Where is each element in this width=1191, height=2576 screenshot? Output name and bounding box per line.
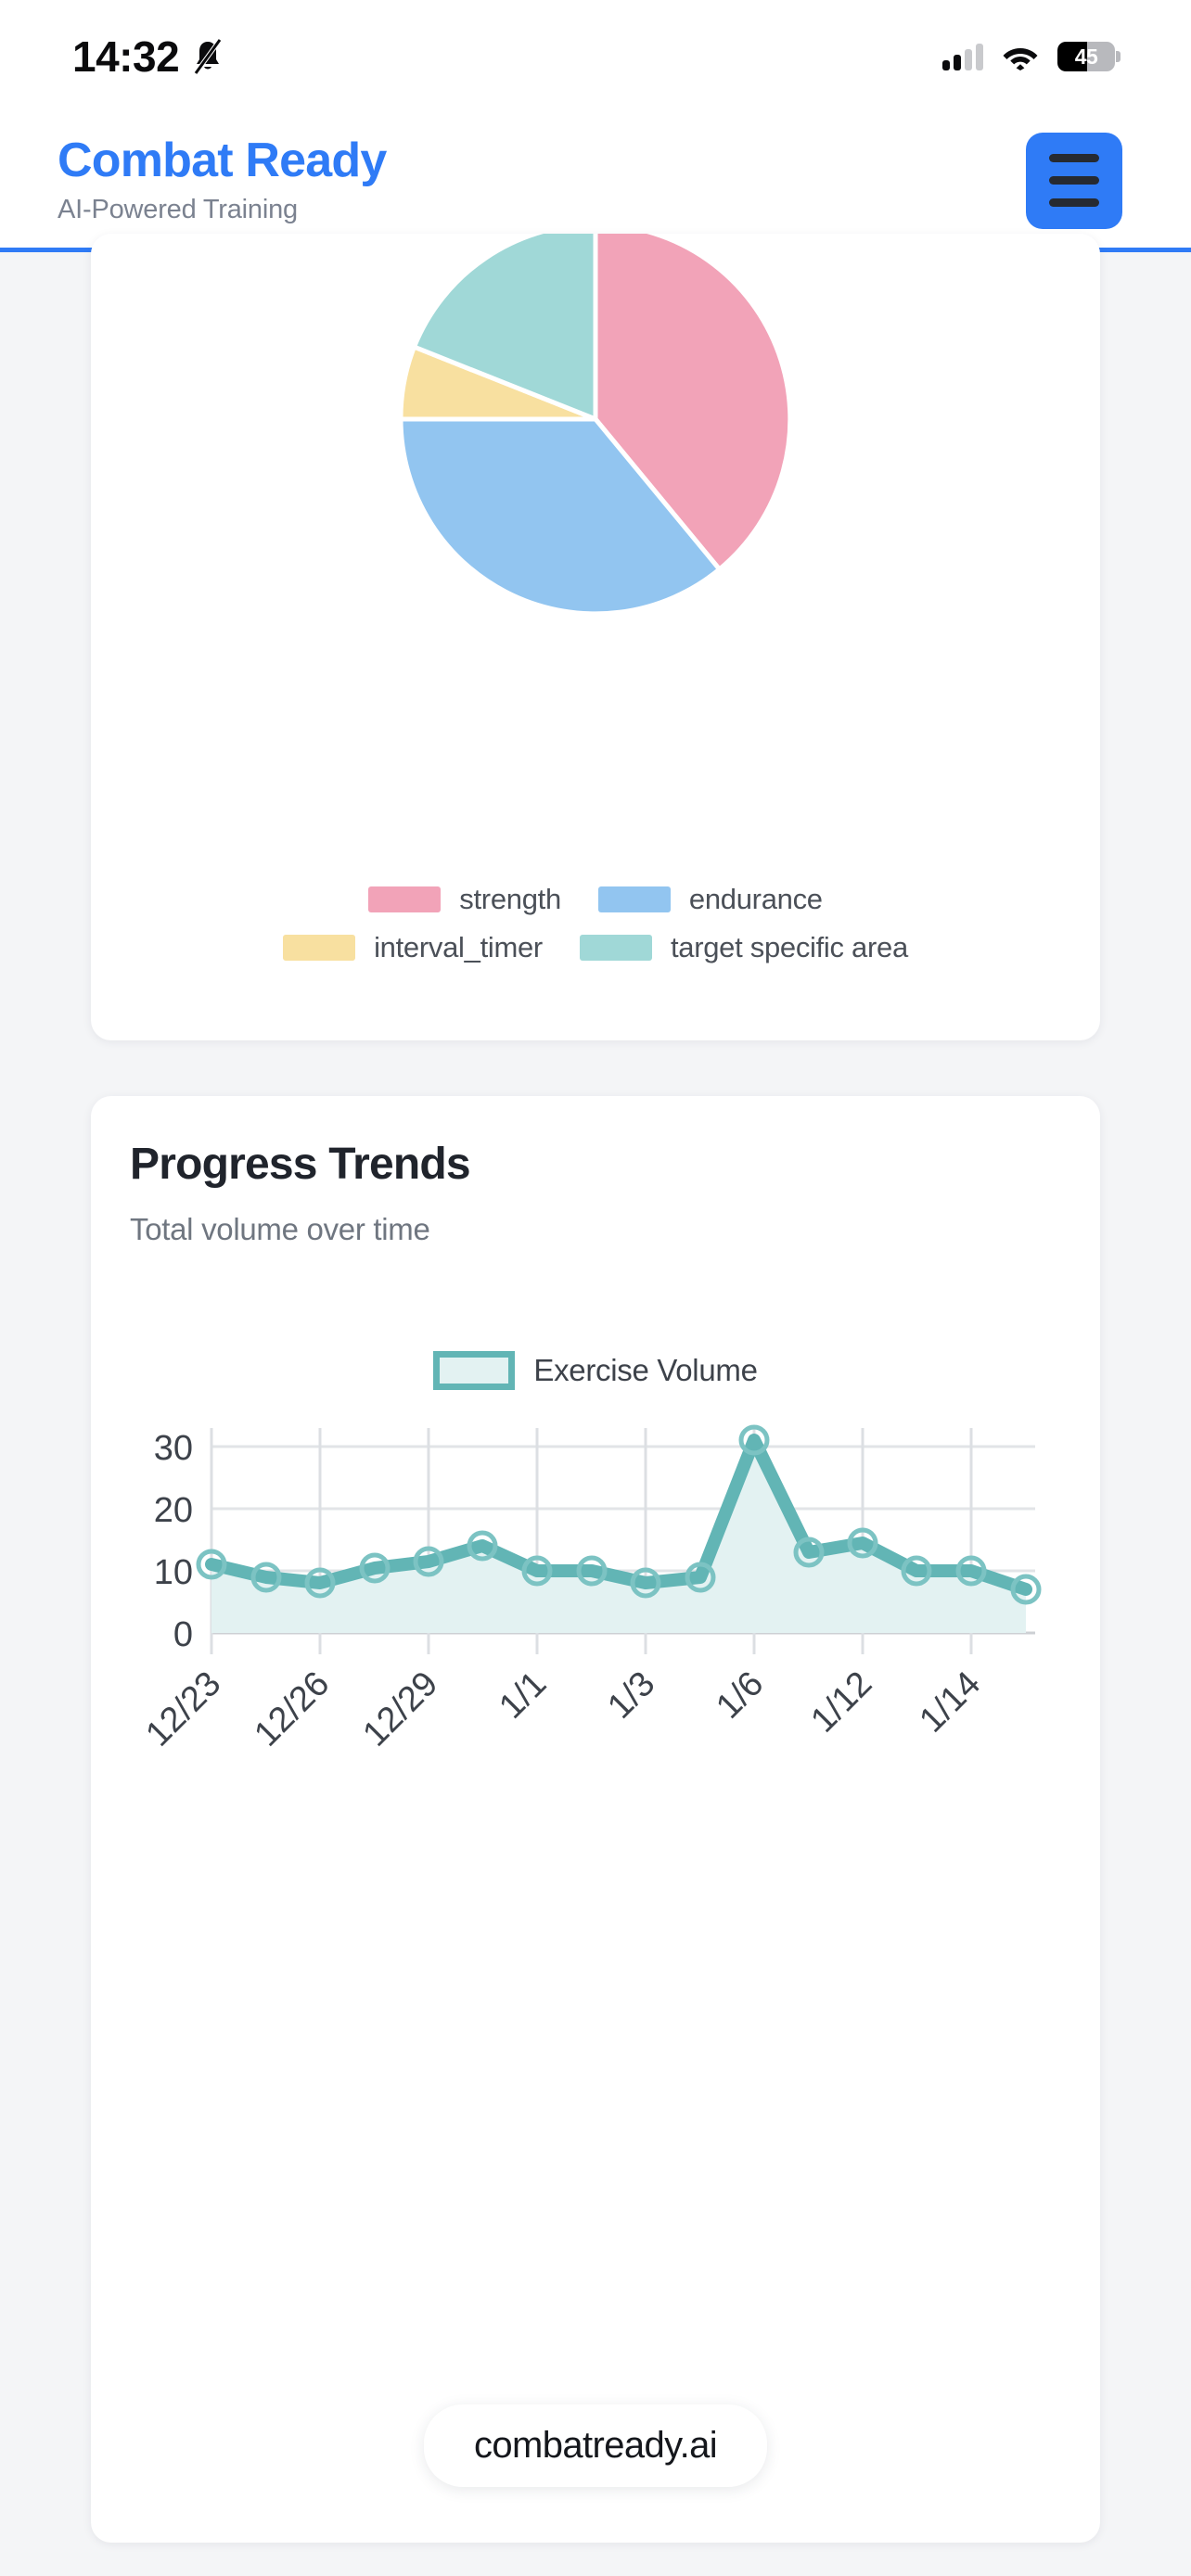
- xtick-2: 12/29: [355, 1664, 445, 1754]
- svg-text:30: 30: [154, 1429, 193, 1468]
- legend-swatch-endurance: [598, 886, 671, 912]
- status-time: 14:32: [72, 32, 179, 82]
- pie-chart[interactable]: [387, 234, 804, 628]
- xtick-5: 1/6: [709, 1664, 771, 1727]
- legend-swatch-exercise-volume: [433, 1351, 515, 1390]
- app-subtitle: AI-Powered Training: [58, 195, 386, 225]
- legend-swatch-target-specific-area: [580, 935, 652, 961]
- pie-legend: strength endurance interval_timer: [91, 883, 1100, 964]
- menu-bar-2: [1049, 176, 1099, 185]
- menu-bar-3: [1049, 198, 1099, 207]
- xtick-0: 12/23: [138, 1664, 228, 1754]
- xtick-3: 1/1: [492, 1664, 554, 1727]
- volume-line-chart[interactable]: 30 20 10 0: [91, 1411, 1100, 1782]
- battery-percent-label: 45: [1057, 42, 1115, 71]
- phone-screen: 14:32: [0, 0, 1191, 2576]
- workout-distribution-card: strength endurance interval_timer: [91, 234, 1100, 1040]
- legend-swatch-strength: [368, 886, 441, 912]
- watermark-badge: combatready.ai: [424, 2404, 767, 2487]
- battery-icon: 45: [1057, 42, 1115, 71]
- legend-label-target-specific-area: target specific area: [671, 931, 908, 964]
- xtick-7: 1/14: [912, 1664, 988, 1741]
- xtick-1: 12/26: [247, 1664, 337, 1754]
- hamburger-menu-icon[interactable]: [1026, 133, 1122, 229]
- xtick-4: 1/3: [600, 1664, 662, 1727]
- progress-trends-title: Progress Trends: [130, 1139, 470, 1190]
- status-bar: 14:32: [0, 0, 1191, 113]
- progress-trends-subtitle: Total volume over time: [130, 1212, 430, 1247]
- pie-legend-row-1: strength endurance: [368, 883, 822, 916]
- legend-label-interval-timer: interval_timer: [374, 931, 543, 964]
- wifi-icon: [1002, 43, 1039, 70]
- legend-item-endurance[interactable]: endurance: [598, 883, 823, 916]
- line-chart-legend[interactable]: Exercise Volume: [91, 1351, 1100, 1390]
- svg-text:10: 10: [154, 1553, 193, 1592]
- status-bar-right: 45: [942, 42, 1124, 71]
- xtick-6: 1/12: [803, 1664, 879, 1741]
- cellular-signal-icon: [942, 43, 983, 70]
- bell-slash-icon: [192, 38, 224, 75]
- app-header: Combat Ready AI-Powered Training: [0, 113, 1191, 252]
- volume-area-fill: [211, 1440, 1026, 1633]
- legend-label-strength: strength: [459, 883, 561, 916]
- pie-legend-row-2: interval_timer target specific area: [283, 931, 908, 964]
- legend-item-strength[interactable]: strength: [368, 883, 561, 916]
- app-title: Combat Ready: [58, 135, 386, 186]
- scroll-content[interactable]: strength endurance interval_timer: [0, 257, 1191, 2576]
- menu-bar-1: [1049, 154, 1099, 162]
- legend-item-target-specific-area[interactable]: target specific area: [580, 931, 908, 964]
- legend-item-interval-timer[interactable]: interval_timer: [283, 931, 543, 964]
- progress-trends-card: Progress Trends Total volume over time E…: [91, 1096, 1100, 2543]
- legend-label-endurance: endurance: [689, 883, 823, 916]
- legend-swatch-interval-timer: [283, 935, 355, 961]
- pie-chart-area: strength endurance interval_timer: [91, 234, 1100, 874]
- legend-label-exercise-volume: Exercise Volume: [533, 1353, 757, 1388]
- svg-text:0: 0: [173, 1615, 193, 1654]
- brand-block: Combat Ready AI-Powered Training: [58, 135, 386, 225]
- svg-text:20: 20: [154, 1491, 193, 1530]
- status-bar-left: 14:32: [72, 32, 224, 82]
